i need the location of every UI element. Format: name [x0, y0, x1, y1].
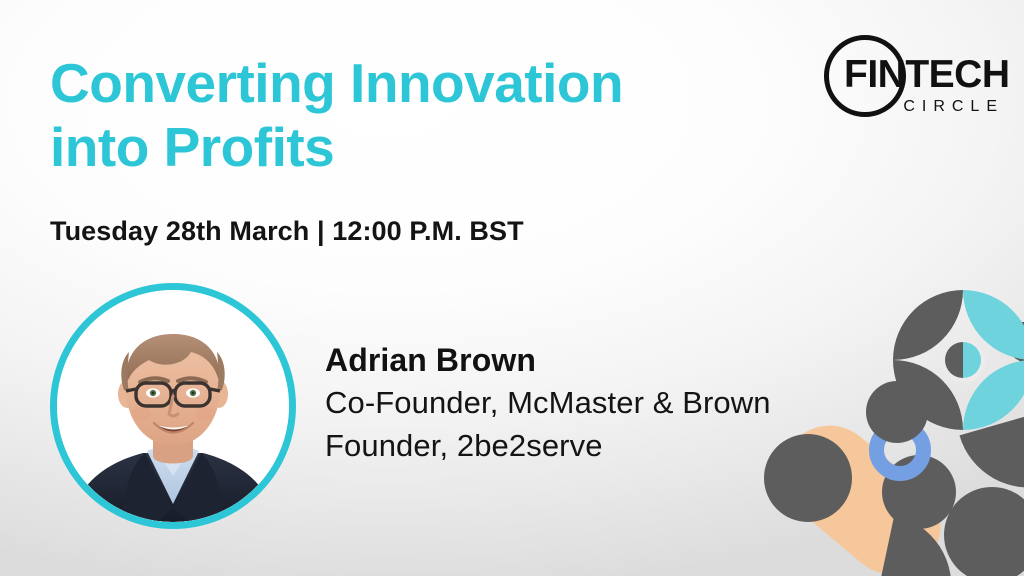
headline-line-2: into Profits	[50, 116, 334, 178]
gray-wedge-right	[959, 415, 1024, 504]
speaker-role-line-2: Founder, 2be2serve	[325, 425, 885, 468]
logo-subtext: CIRCLE	[903, 99, 1004, 115]
speaker-photo	[57, 290, 289, 522]
event-datetime: Tuesday 28th March | 12:00 P.M. BST	[50, 216, 524, 247]
gray-wedge-bottom	[879, 515, 964, 576]
petal-center-hole	[940, 337, 986, 383]
gray-circle-2	[882, 455, 956, 529]
gray-wedge-small	[996, 322, 1024, 366]
petal-top-left	[893, 290, 963, 360]
petal-bottom-left	[893, 360, 963, 430]
page-title: Converting Innovation into Profits	[50, 52, 790, 180]
four-petal-star-icon	[893, 290, 1024, 430]
petal-center-dot	[945, 342, 981, 378]
webinar-promo-slide: Converting Innovation into Profits Tuesd…	[0, 0, 1024, 576]
petal-top-right	[963, 290, 1024, 360]
speaker-role-line-1: Co-Founder, McMaster & Brown	[325, 382, 885, 425]
fintech-circle-logo: FINTECH CIRCLE	[818, 33, 1006, 123]
petal-bottom-right	[963, 360, 1024, 430]
avatar	[50, 283, 296, 529]
logo-wordmark: FINTECH	[844, 55, 1010, 94]
speaker-details: Adrian Brown Co-Founder, McMaster & Brow…	[325, 338, 885, 468]
speaker-name: Adrian Brown	[325, 338, 885, 382]
center-dot-right-half	[963, 342, 981, 378]
center-dot-left-half	[945, 342, 963, 378]
headline-line-1: Converting Innovation	[50, 52, 623, 114]
gray-circle-3	[944, 487, 1024, 576]
